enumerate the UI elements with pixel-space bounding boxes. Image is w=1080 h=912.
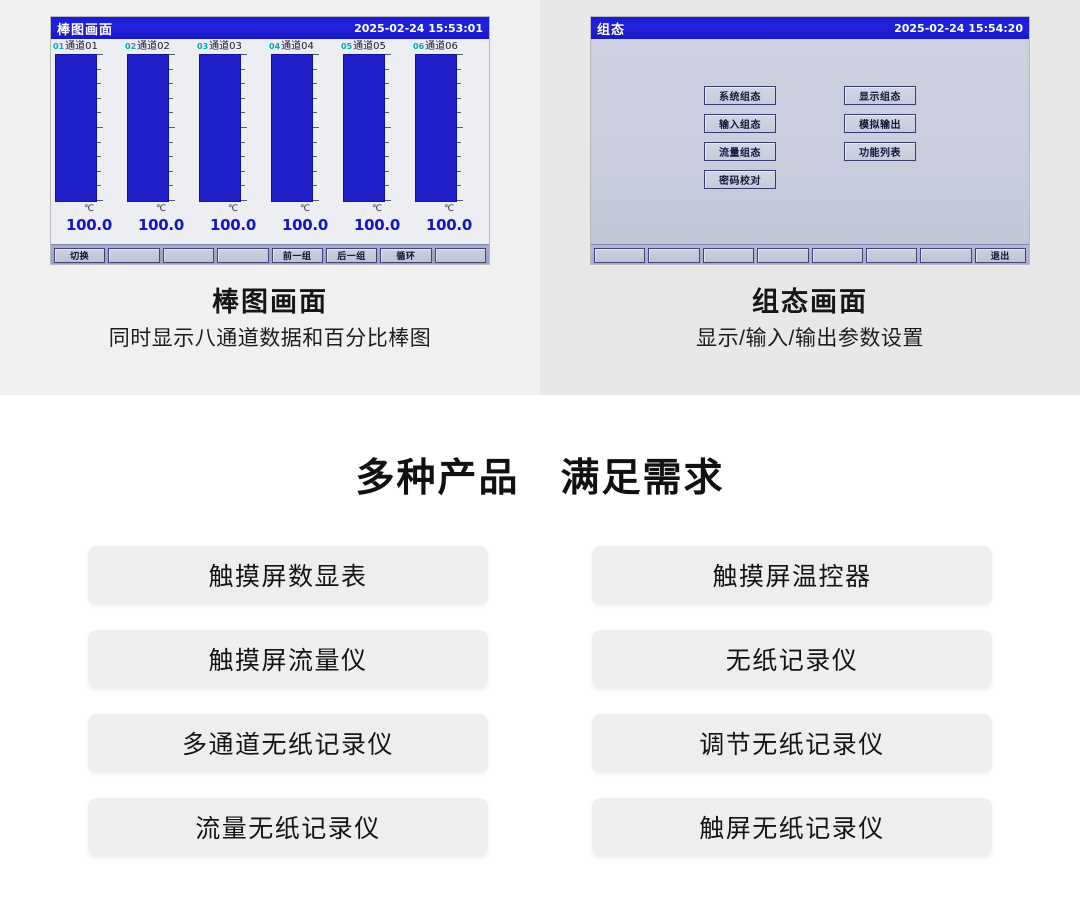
screen-title: 棒图画面: [57, 19, 113, 38]
bar-plot-area: [51, 54, 489, 202]
channel-number: 05: [341, 42, 352, 51]
bar-graph-body: 01通道0102通道0203通道0304通道0405通道0506通道06 ℃℃℃…: [51, 39, 489, 244]
screen-title-bar: 棒图画面 2025-02-24 15:53:01: [51, 17, 489, 39]
channel-label: 06通道06: [413, 41, 485, 54]
channel-unit: ℃: [197, 202, 269, 216]
channel-number: 06: [413, 42, 424, 51]
channel-bar-fill: [55, 54, 97, 202]
softkey-bar-bar-graph: 切换前一组后一组循环: [51, 244, 489, 265]
channel-number: 02: [125, 42, 136, 51]
config-menu-button-模拟输出[interactable]: 模拟输出: [844, 114, 916, 133]
config-menu-button-系统组态[interactable]: 系统组态: [704, 86, 776, 105]
channel-label: 05通道05: [341, 41, 413, 54]
screen-title: 组态: [597, 19, 625, 38]
products-heading: 多种产品 满足需求: [0, 395, 1080, 503]
bar-scale-ticks: [241, 54, 247, 202]
caption-title-bar-graph: 棒图画面: [212, 285, 328, 319]
channel-label: 01通道01: [53, 41, 125, 54]
channel-value: 100.0: [341, 216, 413, 236]
product-card-触摸屏数显表[interactable]: 触摸屏数显表: [88, 546, 488, 604]
products-column-left: 触摸屏数显表触摸屏流量仪多通道无纸记录仪流量无纸记录仪: [88, 546, 488, 856]
showcase-panel-bar-graph: 棒图画面 2025-02-24 15:53:01 01通道0102通道0203通…: [0, 0, 540, 395]
channel-unit: ℃: [53, 202, 125, 216]
channel-name: 通道06: [425, 41, 458, 52]
config-menu-button-功能列表[interactable]: 功能列表: [844, 142, 916, 161]
bar-graph-softkey-blank-2[interactable]: [163, 248, 214, 263]
channel-bar-slot: [125, 54, 197, 202]
bar-scale-ticks: [97, 54, 103, 202]
channel-unit: ℃: [125, 202, 197, 216]
channel-value: 100.0: [269, 216, 341, 236]
config-menu-button-输入组态[interactable]: 输入组态: [704, 114, 776, 133]
screen-clock: 2025-02-24 15:54:20: [894, 22, 1023, 35]
configuration-menu-column-left: 系统组态输入组态流量组态密码校对: [704, 86, 776, 189]
channel-bar-fill: [127, 54, 169, 202]
product-card-流量无纸记录仪[interactable]: 流量无纸记录仪: [88, 798, 488, 856]
bar-graph-softkey-前一组[interactable]: 前一组: [272, 248, 323, 263]
configuration-softkey-blank-0[interactable]: [594, 248, 645, 263]
channel-bar-fill: [343, 54, 385, 202]
config-menu-button-流量组态[interactable]: 流量组态: [704, 142, 776, 161]
product-card-多通道无纸记录仪[interactable]: 多通道无纸记录仪: [88, 714, 488, 772]
configuration-menu-column-right: 显示组态模拟输出功能列表: [844, 86, 916, 189]
products-card-grid: 触摸屏数显表触摸屏流量仪多通道无纸记录仪流量无纸记录仪 触摸屏温控器无纸记录仪调…: [0, 546, 1080, 856]
product-card-触屏无纸记录仪[interactable]: 触屏无纸记录仪: [592, 798, 992, 856]
caption-subtitle-bar-graph: 同时显示八通道数据和百分比棒图: [109, 325, 432, 352]
channel-unit: ℃: [269, 202, 341, 216]
device-screen-bar-graph: 棒图画面 2025-02-24 15:53:01 01通道0102通道0203通…: [50, 16, 490, 265]
channel-value-row: 100.0100.0100.0100.0100.0100.0: [51, 216, 489, 236]
channel-bar-fill: [271, 54, 313, 202]
bar-graph-softkey-blank-7[interactable]: [435, 248, 486, 263]
configuration-softkey-blank-6[interactable]: [920, 248, 971, 263]
channel-bar-slot: [53, 54, 125, 202]
channel-unit-row: ℃℃℃℃℃℃: [51, 202, 489, 216]
device-screen-configuration: 组态 2025-02-24 15:54:20 系统组态输入组态流量组态密码校对 …: [590, 16, 1030, 265]
screen-clock: 2025-02-24 15:53:01: [354, 22, 483, 35]
product-card-无纸记录仪[interactable]: 无纸记录仪: [592, 630, 992, 688]
config-menu-button-显示组态[interactable]: 显示组态: [844, 86, 916, 105]
configuration-body: 系统组态输入组态流量组态密码校对 显示组态模拟输出功能列表: [591, 39, 1029, 244]
bar-scale-ticks: [313, 54, 319, 202]
caption-title-configuration: 组态画面: [752, 285, 868, 319]
product-card-触摸屏流量仪[interactable]: 触摸屏流量仪: [88, 630, 488, 688]
configuration-softkey-blank-4[interactable]: [812, 248, 863, 263]
configuration-menu-grid: 系统组态输入组态流量组态密码校对 显示组态模拟输出功能列表: [591, 86, 1029, 189]
channel-label: 02通道02: [125, 41, 197, 54]
channel-name: 通道05: [353, 41, 386, 52]
bar-scale-ticks: [169, 54, 175, 202]
channel-number: 01: [53, 42, 64, 51]
channel-bar-slot: [413, 54, 485, 202]
config-menu-button-密码校对[interactable]: 密码校对: [704, 170, 776, 189]
channel-name: 通道03: [209, 41, 242, 52]
config-menu-spacer: [844, 170, 916, 189]
channel-bar-slot: [197, 54, 269, 202]
channel-unit: ℃: [413, 202, 485, 216]
channel-value: 100.0: [413, 216, 485, 236]
showcase-panel-configuration: 组态 2025-02-24 15:54:20 系统组态输入组态流量组态密码校对 …: [540, 0, 1080, 395]
channel-number: 03: [197, 42, 208, 51]
channel-bar-fill: [415, 54, 457, 202]
channel-number: 04: [269, 42, 280, 51]
channel-label: 03通道03: [197, 41, 269, 54]
channel-bar-slot: [269, 54, 341, 202]
showcase-section: 棒图画面 2025-02-24 15:53:01 01通道0102通道0203通…: [0, 0, 1080, 395]
softkey-bar-configuration: 退出: [591, 244, 1029, 265]
products-column-right: 触摸屏温控器无纸记录仪调节无纸记录仪触屏无纸记录仪: [592, 546, 992, 856]
products-section: 多种产品 满足需求 触摸屏数显表触摸屏流量仪多通道无纸记录仪流量无纸记录仪 触摸…: [0, 395, 1080, 912]
product-card-调节无纸记录仪[interactable]: 调节无纸记录仪: [592, 714, 992, 772]
channel-name: 通道02: [137, 41, 170, 52]
configuration-softkey-blank-3[interactable]: [757, 248, 808, 263]
caption-subtitle-configuration: 显示/输入/输出参数设置: [696, 325, 924, 352]
channel-bar-fill: [199, 54, 241, 202]
channel-label-row: 01通道0102通道0203通道0304通道0405通道0506通道06: [51, 41, 489, 54]
bar-scale-ticks: [457, 54, 463, 202]
channel-value: 100.0: [197, 216, 269, 236]
bar-graph-softkey-blank-3[interactable]: [217, 248, 268, 263]
channel-name: 通道04: [281, 41, 314, 52]
channel-unit: ℃: [341, 202, 413, 216]
product-card-触摸屏温控器[interactable]: 触摸屏温控器: [592, 546, 992, 604]
screen-title-bar: 组态 2025-02-24 15:54:20: [591, 17, 1029, 39]
configuration-softkey-退出[interactable]: 退出: [975, 248, 1026, 263]
bar-graph-softkey-后一组[interactable]: 后一组: [326, 248, 377, 263]
configuration-softkey-blank-5[interactable]: [866, 248, 917, 263]
configuration-softkey-blank-1[interactable]: [648, 248, 699, 263]
bar-graph-softkey-切换[interactable]: 切换: [54, 248, 105, 263]
bar-graph-softkey-循环[interactable]: 循环: [380, 248, 431, 263]
configuration-softkey-blank-2[interactable]: [703, 248, 754, 263]
channel-value: 100.0: [53, 216, 125, 236]
bar-graph-softkey-blank-1[interactable]: [108, 248, 159, 263]
bar-scale-ticks: [385, 54, 391, 202]
channel-bar-slot: [341, 54, 413, 202]
channel-name: 通道01: [65, 41, 98, 52]
channel-value: 100.0: [125, 216, 197, 236]
channel-label: 04通道04: [269, 41, 341, 54]
